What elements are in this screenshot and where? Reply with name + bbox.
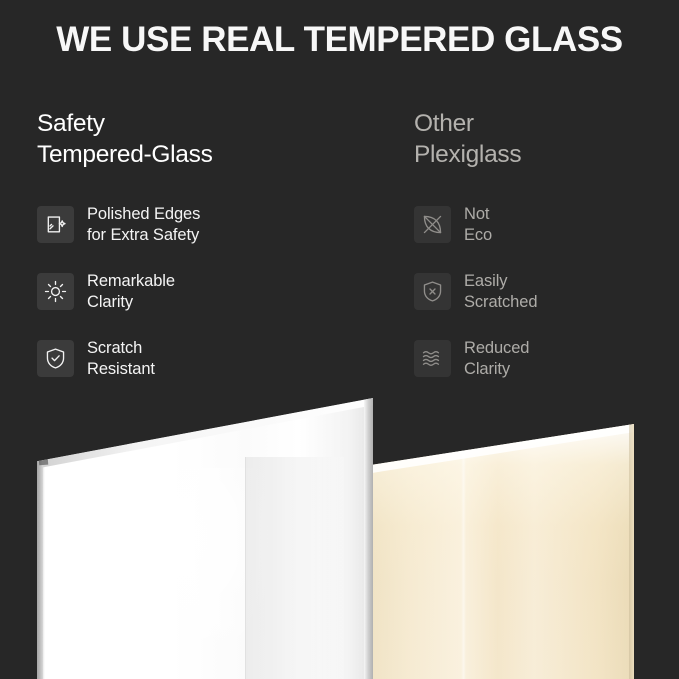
feature-row-scratch-resistant: Scratch Resistant	[37, 338, 377, 379]
comparison-infographic: WE USE REAL TEMPERED GLASS Safety Temper…	[0, 0, 679, 679]
plexiglass-top-edge	[372, 424, 634, 679]
clarity-sun-icon	[37, 273, 74, 310]
plexiglass-panel	[372, 424, 634, 679]
column-other-plexiglass: Other Plexiglass Not Eco	[414, 108, 664, 379]
feature-label-polished-edges: Polished Edges for Extra Safety	[87, 204, 200, 245]
feature-row-remarkable-clarity: Remarkable Clarity	[37, 271, 377, 312]
feature-row-easily-scratched: Easily Scratched	[414, 271, 664, 312]
tempered-glass-corner-detail	[39, 458, 48, 466]
product-photo	[0, 398, 679, 679]
tempered-glass-panel	[37, 398, 373, 679]
feature-row-polished-edges: Polished Edges for Extra Safety	[37, 204, 377, 245]
polished-edges-icon	[37, 206, 74, 243]
page-title: WE USE REAL TEMPERED GLASS	[0, 20, 679, 60]
feature-row-not-eco: Not Eco	[414, 204, 664, 245]
feature-label-scratch-resistant: Scratch Resistant	[87, 338, 155, 379]
wavy-lines-icon	[414, 340, 451, 377]
leaf-slash-icon	[414, 206, 451, 243]
plexiglass-right-edge	[629, 424, 634, 679]
shield-x-icon	[414, 273, 451, 310]
feature-label-not-eco: Not Eco	[464, 204, 492, 245]
plexiglass-gloss-highlight	[461, 424, 466, 679]
column-title-right: Other Plexiglass	[414, 108, 664, 170]
column-title-left: Safety Tempered-Glass	[37, 108, 377, 170]
feature-list-left: Polished Edges for Extra Safety Remarkab…	[37, 204, 377, 379]
feature-label-reduced-clarity: Reduced Clarity	[464, 338, 529, 379]
shield-check-icon	[37, 340, 74, 377]
feature-row-reduced-clarity: Reduced Clarity	[414, 338, 664, 379]
tempered-glass-reflection	[245, 457, 343, 679]
feature-label-easily-scratched: Easily Scratched	[464, 271, 537, 312]
column-safety-tempered-glass: Safety Tempered-Glass Polished Edges for…	[37, 108, 377, 379]
feature-list-right: Not Eco Easily Scratched	[414, 204, 664, 379]
tempered-glass-right-edge	[364, 398, 373, 679]
feature-label-remarkable-clarity: Remarkable Clarity	[87, 271, 175, 312]
tempered-glass-left-edge	[37, 398, 43, 679]
